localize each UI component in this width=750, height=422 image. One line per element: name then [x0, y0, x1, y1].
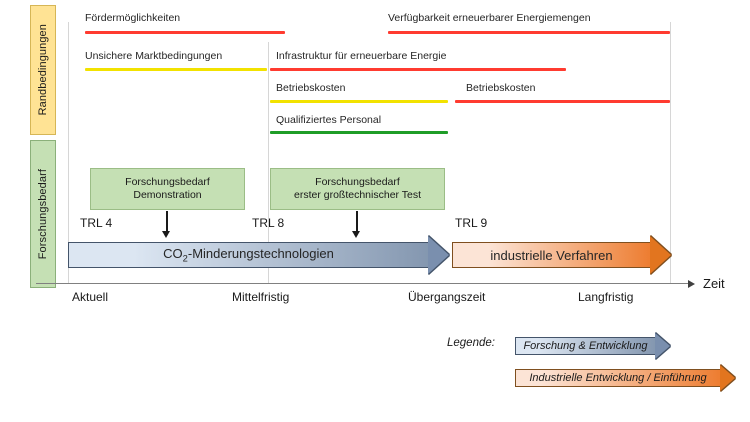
industrial-phase-arrow-text: industrielle Verfahren [490, 248, 612, 263]
research-box-subtitle: Demonstration [133, 189, 201, 202]
x-axis-tick-mittelfristig: Mittelfristig [232, 290, 289, 304]
research-need-box-grosstechnischer-test[interactable]: Forschungsbedarf erster großtechnischer … [270, 168, 445, 210]
industrial-phase-arrow-label: industrielle Verfahren [452, 242, 650, 268]
trl-marker-4: TRL 4 [80, 216, 112, 230]
constraint-label: Fördermöglichkeiten [85, 12, 180, 24]
research-box-arrow-stem [166, 211, 168, 233]
constraint-bar [270, 131, 448, 134]
legend-item-industrial: Industrielle Entwicklung / Einführung [515, 365, 735, 391]
constraint-bar [85, 68, 267, 71]
legend-item-research-body: Forschung & Entwicklung [515, 337, 655, 355]
constraint-bar [388, 31, 670, 34]
x-axis-tick-langfristig: Langfristig [578, 290, 633, 304]
category-tab-forschungsbedarf: Forschungsbedarf [30, 140, 56, 288]
research-box-subtitle: erster großtechnischer Test [294, 189, 421, 202]
constraint-label: Infrastruktur für erneuerbare Energie [276, 50, 446, 62]
research-phase-arrow[interactable]: CO2-Minderungstechnologien [68, 236, 449, 274]
legend-title: Legende: [447, 337, 495, 349]
research-need-box-demonstration[interactable]: Forschungsbedarf Demonstration [90, 168, 245, 210]
category-tab-label: Forschungsbedarf [37, 169, 49, 259]
constraint-bar [270, 100, 448, 103]
legend-item-industrial-head [720, 365, 735, 391]
category-tab-randbedingungen: Randbedingungen [30, 5, 56, 135]
constraint-label: Betriebskosten [276, 82, 345, 94]
trl-marker-9: TRL 9 [455, 216, 487, 230]
legend-item-research: Forschung & Entwicklung [515, 333, 670, 359]
x-axis-line [36, 283, 688, 284]
research-box-title: Forschungsbedarf [315, 176, 400, 189]
research-box-title: Forschungsbedarf [125, 176, 210, 189]
constraint-bar [270, 68, 566, 71]
constraint-bar [455, 100, 670, 103]
x-axis-arrow-icon [688, 280, 695, 288]
trl-marker-8: TRL 8 [252, 216, 284, 230]
legend-item-industrial-body: Industrielle Entwicklung / Einführung [515, 369, 720, 387]
industrial-phase-arrow[interactable]: industrielle Verfahren [452, 236, 671, 274]
industrial-phase-arrow-head [650, 236, 671, 274]
research-box-arrow-stem [356, 211, 358, 233]
research-phase-arrow-head [428, 236, 449, 274]
x-axis-tick-aktuell: Aktuell [72, 290, 108, 304]
x-axis-title: Zeit [703, 276, 725, 291]
legend-item-research-label: Forschung & Entwicklung [523, 340, 647, 352]
legend-item-research-head [655, 333, 670, 359]
constraint-label: Verfügbarkeit erneuerbarer Energiemengen [388, 12, 591, 24]
research-phase-arrow-text: CO2-Minderungstechnologien [163, 246, 334, 264]
constraint-bar [85, 31, 285, 34]
x-axis-tick-uebergangszeit: Übergangszeit [408, 290, 485, 304]
constraint-label: Betriebskosten [466, 82, 535, 94]
category-tab-label: Randbedingungen [37, 24, 49, 115]
constraint-label: Qualifiziertes Personal [276, 114, 381, 126]
constraint-label: Unsichere Marktbedingungen [85, 50, 222, 62]
research-phase-arrow-label: CO2-Minderungstechnologien [68, 242, 428, 268]
legend-item-industrial-label: Industrielle Entwicklung / Einführung [529, 372, 706, 384]
